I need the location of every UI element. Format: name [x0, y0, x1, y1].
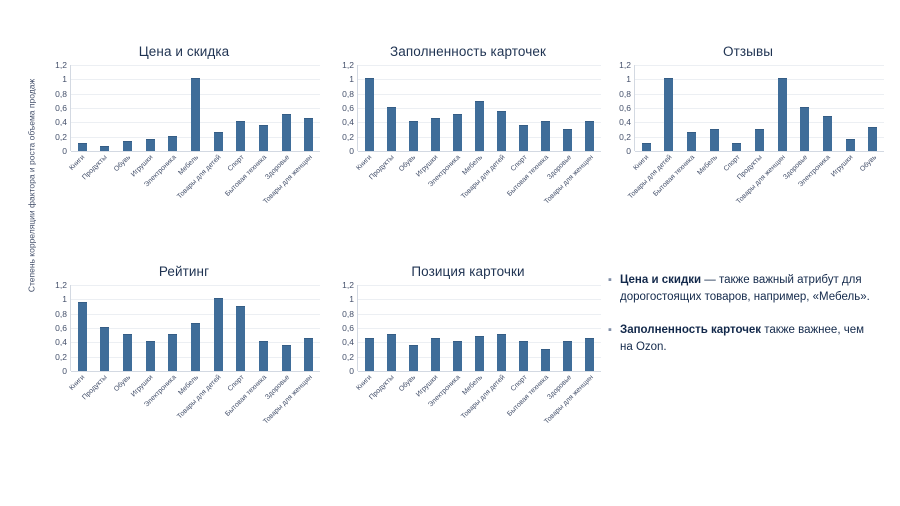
y-tick-label: 1	[62, 74, 67, 84]
plot-area: 00,20,40,60,811,2	[48, 285, 320, 371]
plot-area: 00,20,40,60,811,2	[335, 285, 601, 371]
bullet-headline: Заполненность карточек	[620, 324, 761, 336]
y-tick-label: 0,4	[342, 337, 354, 347]
chart-rating: Рейтинг00,20,40,60,811,2КнигиПродуктыОбу…	[48, 264, 320, 433]
bar[interactable]	[191, 323, 200, 371]
bar-slot	[535, 285, 557, 371]
bar-slot	[513, 65, 535, 151]
x-axis-labels: КнигиПродуктыОбувьИгрушкиЭлектроникаМебе…	[357, 371, 601, 433]
bar[interactable]	[755, 129, 764, 151]
y-axis: 00,20,40,60,811,2	[48, 285, 70, 371]
x-slot: Обувь	[401, 151, 423, 213]
x-tick-label: Спорт	[227, 154, 247, 174]
y-tick-label: 0,8	[342, 309, 354, 319]
plot-canvas	[357, 285, 601, 371]
y-axis: 00,20,40,60,811,2	[612, 65, 634, 151]
chart-reviews: Отзывы00,20,40,60,811,2КнигиТовары для д…	[612, 44, 884, 213]
chart-title: Позиция карточки	[335, 264, 601, 279]
bar[interactable]	[146, 341, 155, 371]
bar[interactable]	[304, 118, 313, 151]
x-slot: Продукты	[93, 151, 116, 213]
bar-slot	[468, 285, 490, 371]
bar[interactable]	[687, 132, 696, 151]
bar-slot	[402, 285, 424, 371]
plot-canvas	[634, 65, 884, 151]
bar[interactable]	[365, 338, 374, 371]
bar-slot	[491, 285, 513, 371]
bar-slot	[748, 65, 771, 151]
bar-slot	[703, 65, 726, 151]
bar[interactable]	[541, 121, 550, 151]
y-tick-label: 0,4	[619, 117, 631, 127]
y-tick-label: 0,4	[55, 337, 67, 347]
y-tick-label: 0,6	[55, 103, 67, 113]
bullet-item: ▪Заполненность карточек также важнее, че…	[608, 322, 870, 356]
x-tick-label: Обувь	[113, 154, 133, 174]
bar-slot	[358, 65, 380, 151]
x-slot: Электроника	[161, 151, 184, 213]
chart-title: Рейтинг	[48, 264, 320, 279]
insights-bullet-list: ▪Цена и скидки — также важный атрибут дл…	[608, 272, 870, 372]
bar-slot	[116, 285, 139, 371]
x-tick-label: Спорт	[509, 154, 529, 174]
y-tick-label: 0,2	[619, 132, 631, 142]
bar[interactable]	[475, 336, 484, 371]
slide-canvas: Степень корреляции фактора и роста объем…	[0, 0, 900, 506]
y-tick-label: 0,6	[55, 323, 67, 333]
bar-slot	[446, 285, 468, 371]
bar[interactable]	[563, 341, 572, 371]
x-slot: Товары для детей	[490, 151, 512, 213]
chart-title: Отзывы	[612, 44, 884, 59]
y-axis-caption: Степень корреляции фактора и роста объем…	[27, 66, 38, 306]
bar-slot	[94, 285, 117, 371]
bar-slot	[446, 65, 468, 151]
plot-canvas	[70, 285, 320, 371]
y-tick-label: 1	[349, 74, 354, 84]
x-tick-label: Книги	[632, 154, 651, 173]
plot-area: 00,20,40,60,811,2	[335, 65, 601, 151]
bar[interactable]	[259, 341, 268, 371]
bar[interactable]	[123, 334, 132, 371]
bar-slot	[252, 285, 275, 371]
bar-slot	[229, 285, 252, 371]
chart-title: Цена и скидка	[48, 44, 320, 59]
bar-series	[71, 285, 320, 371]
bar-slot	[252, 65, 275, 151]
bar-slot	[71, 65, 94, 151]
bar[interactable]	[800, 107, 809, 151]
x-slot: Товары для женщин	[297, 151, 320, 213]
bar[interactable]	[409, 121, 418, 151]
plot-canvas	[357, 65, 601, 151]
bar[interactable]	[497, 334, 506, 371]
bar-series	[358, 285, 601, 371]
y-tick-label: 0,6	[342, 103, 354, 113]
x-slot: Товары для детей	[206, 151, 229, 213]
bar[interactable]	[282, 114, 291, 151]
x-slot: Товары для женщин	[579, 371, 601, 433]
x-slot: Книги	[357, 151, 379, 213]
bar-slot	[861, 65, 884, 151]
y-axis: 00,20,40,60,811,2	[335, 65, 357, 151]
x-slot: Обувь	[115, 151, 138, 213]
y-tick-label: 0,6	[619, 103, 631, 113]
x-slot: Товары для детей	[206, 371, 229, 433]
x-slot: Книги	[70, 371, 93, 433]
bar-slot	[71, 285, 94, 371]
plot-area: 00,20,40,60,811,2	[612, 65, 884, 151]
y-tick-label: 1,2	[342, 280, 354, 290]
x-tick-label: Спорт	[722, 154, 742, 174]
bar[interactable]	[475, 101, 484, 151]
bar[interactable]	[259, 125, 268, 151]
chart-title: Заполненность карточек	[335, 44, 601, 59]
bar-slot	[535, 65, 557, 151]
bullet-marker-icon: ▪	[608, 272, 620, 306]
x-slot: Товары для женщин	[579, 151, 601, 213]
bar-slot	[358, 285, 380, 371]
bar-slot	[771, 65, 794, 151]
x-slot: Книги	[70, 151, 93, 213]
bar-slot	[491, 65, 513, 151]
bar[interactable]	[453, 341, 462, 371]
bar-slot	[94, 65, 117, 151]
x-tick-label: Обувь	[113, 374, 133, 394]
bar-slot	[513, 285, 535, 371]
x-slot: Обувь	[401, 371, 423, 433]
bar-slot	[680, 65, 703, 151]
x-axis-labels: КнигиПродуктыОбувьИгрушкиЭлектроникаМебе…	[70, 151, 320, 213]
bullet-text: Заполненность карточек также важнее, чем…	[620, 322, 870, 356]
bar-slot	[380, 65, 402, 151]
bar-slot	[139, 285, 162, 371]
y-tick-label: 1	[626, 74, 631, 84]
bar[interactable]	[497, 111, 506, 151]
x-slot: Книги	[357, 371, 379, 433]
bar[interactable]	[168, 334, 177, 371]
bar-slot	[793, 65, 816, 151]
bar[interactable]	[846, 139, 855, 151]
bar-slot	[839, 65, 862, 151]
bar-series	[358, 65, 601, 151]
bar[interactable]	[519, 341, 528, 371]
x-slot: Электроника	[446, 151, 468, 213]
bar[interactable]	[431, 118, 440, 151]
bar[interactable]	[214, 132, 223, 151]
bar-slot	[726, 65, 749, 151]
x-slot: Бытовая техника	[252, 371, 275, 433]
bar-slot	[424, 65, 446, 151]
y-tick-label: 0	[62, 146, 67, 156]
y-tick-label: 1,2	[55, 280, 67, 290]
bar-slot	[207, 65, 230, 151]
y-tick-label: 1	[349, 294, 354, 304]
bar[interactable]	[519, 125, 528, 151]
x-tick-label: Книги	[68, 154, 87, 173]
y-tick-label: 0	[349, 146, 354, 156]
bar-slot	[162, 65, 185, 151]
y-tick-label: 1,2	[619, 60, 631, 70]
y-tick-label: 0,2	[342, 352, 354, 362]
bar[interactable]	[868, 127, 877, 151]
y-tick-label: 1	[62, 294, 67, 304]
chart-card-completeness: Заполненность карточек00,20,40,60,811,2К…	[335, 44, 601, 213]
y-tick-label: 0,8	[55, 309, 67, 319]
bar-series	[71, 65, 320, 151]
bar[interactable]	[100, 327, 109, 371]
x-slot: Игрушки	[839, 151, 862, 213]
bar[interactable]	[541, 349, 550, 372]
x-tick-label: Спорт	[227, 374, 247, 394]
y-tick-label: 0,2	[55, 352, 67, 362]
x-slot: Товары для женщин	[770, 151, 793, 213]
bar[interactable]	[710, 129, 719, 152]
bar-slot	[468, 65, 490, 151]
y-tick-label: 0,8	[619, 89, 631, 99]
bullet-marker-icon: ▪	[608, 322, 620, 356]
bar[interactable]	[236, 306, 245, 372]
bar[interactable]	[409, 345, 418, 371]
x-tick-label: Обувь	[398, 374, 418, 394]
y-tick-label: 0,2	[55, 132, 67, 142]
y-tick-label: 1,2	[342, 60, 354, 70]
y-tick-label: 0,6	[342, 323, 354, 333]
bullet-text: Цена и скидки — также важный атрибут для…	[620, 272, 870, 306]
bar-slot	[116, 65, 139, 151]
bar-slot	[579, 65, 601, 151]
y-tick-label: 0,8	[55, 89, 67, 99]
bar[interactable]	[732, 143, 741, 151]
x-tick-label: Спорт	[509, 374, 529, 394]
bar[interactable]	[123, 141, 132, 151]
bar[interactable]	[431, 338, 440, 371]
x-tick-label: Обувь	[398, 154, 418, 174]
bar-series	[635, 65, 884, 151]
y-tick-label: 0,4	[55, 117, 67, 127]
x-slot: Бытовая техника	[679, 151, 702, 213]
bar[interactable]	[214, 298, 223, 371]
bar[interactable]	[236, 121, 245, 151]
y-tick-label: 0	[349, 366, 354, 376]
chart-card-position: Позиция карточки00,20,40,60,811,2КнигиПр…	[335, 264, 601, 433]
x-slot: Товары для женщин	[297, 371, 320, 433]
bar[interactable]	[778, 78, 787, 151]
x-tick-label: Книги	[355, 154, 374, 173]
x-slot: Продукты	[93, 371, 116, 433]
x-slot: Продукты	[379, 371, 401, 433]
bar-slot	[402, 65, 424, 151]
bar-slot	[162, 285, 185, 371]
y-axis: 00,20,40,60,811,2	[48, 65, 70, 151]
y-axis: 00,20,40,60,811,2	[335, 285, 357, 371]
x-slot: Электроника	[446, 371, 468, 433]
bar[interactable]	[585, 121, 594, 151]
plot-canvas	[70, 65, 320, 151]
x-axis-labels: КнигиПродуктыОбувьИгрушкиЭлектроникаМебе…	[70, 371, 320, 433]
bar[interactable]	[387, 107, 396, 151]
bar[interactable]	[282, 345, 291, 371]
bar-slot	[557, 285, 579, 371]
plot-area: 00,20,40,60,811,2	[48, 65, 320, 151]
x-slot: Обувь	[861, 151, 884, 213]
x-slot: Товары для детей	[490, 371, 512, 433]
x-slot: Обувь	[115, 371, 138, 433]
bar[interactable]	[146, 139, 155, 151]
bar-slot	[275, 65, 298, 151]
bar-slot	[380, 285, 402, 371]
bar-slot	[275, 285, 298, 371]
x-axis-labels: КнигиПродуктыОбувьИгрушкиЭлектроникаМебе…	[357, 151, 601, 213]
bar[interactable]	[168, 136, 177, 151]
y-tick-label: 0	[626, 146, 631, 156]
bar-slot	[424, 285, 446, 371]
bar-slot	[557, 65, 579, 151]
bar-slot	[184, 285, 207, 371]
bar-slot	[207, 285, 230, 371]
bar[interactable]	[78, 143, 87, 151]
bar-slot	[297, 285, 320, 371]
y-tick-label: 0,8	[342, 89, 354, 99]
x-slot: Бытовая техника	[252, 151, 275, 213]
bar-slot	[816, 65, 839, 151]
x-slot: Продукты	[379, 151, 401, 213]
bar[interactable]	[642, 143, 651, 151]
y-tick-label: 0,4	[342, 117, 354, 127]
bar[interactable]	[664, 78, 673, 151]
x-tick-label: Обувь	[858, 154, 878, 174]
bar-slot	[658, 65, 681, 151]
bar[interactable]	[453, 114, 462, 151]
x-slot: Спорт	[725, 151, 748, 213]
x-slot: Электроника	[161, 371, 184, 433]
bar[interactable]	[365, 78, 374, 151]
bullet-item: ▪Цена и скидки — также важный атрибут дл…	[608, 272, 870, 306]
y-tick-label: 0	[62, 366, 67, 376]
bar-slot	[297, 65, 320, 151]
chart-price-discount: Цена и скидка00,20,40,60,811,2КнигиПроду…	[48, 44, 320, 213]
x-slot: Мебель	[702, 151, 725, 213]
x-tick-label: Книги	[355, 374, 374, 393]
bar[interactable]	[191, 78, 200, 151]
y-tick-label: 1,2	[55, 60, 67, 70]
bar-slot	[184, 65, 207, 151]
bar[interactable]	[78, 302, 87, 371]
bar[interactable]	[585, 338, 594, 371]
bar-slot	[579, 285, 601, 371]
y-tick-label: 0,2	[342, 132, 354, 142]
bar-slot	[635, 65, 658, 151]
x-tick-label: Книги	[68, 374, 87, 393]
bar[interactable]	[563, 129, 572, 152]
bar[interactable]	[387, 334, 396, 371]
bar-slot	[139, 65, 162, 151]
bullet-headline: Цена и скидки	[620, 274, 701, 286]
bar[interactable]	[304, 338, 313, 371]
x-axis-labels: КнигиТовары для детейБытовая техникаМебе…	[634, 151, 884, 213]
bar[interactable]	[823, 116, 832, 151]
x-slot: Электроника	[816, 151, 839, 213]
bar-slot	[229, 65, 252, 151]
